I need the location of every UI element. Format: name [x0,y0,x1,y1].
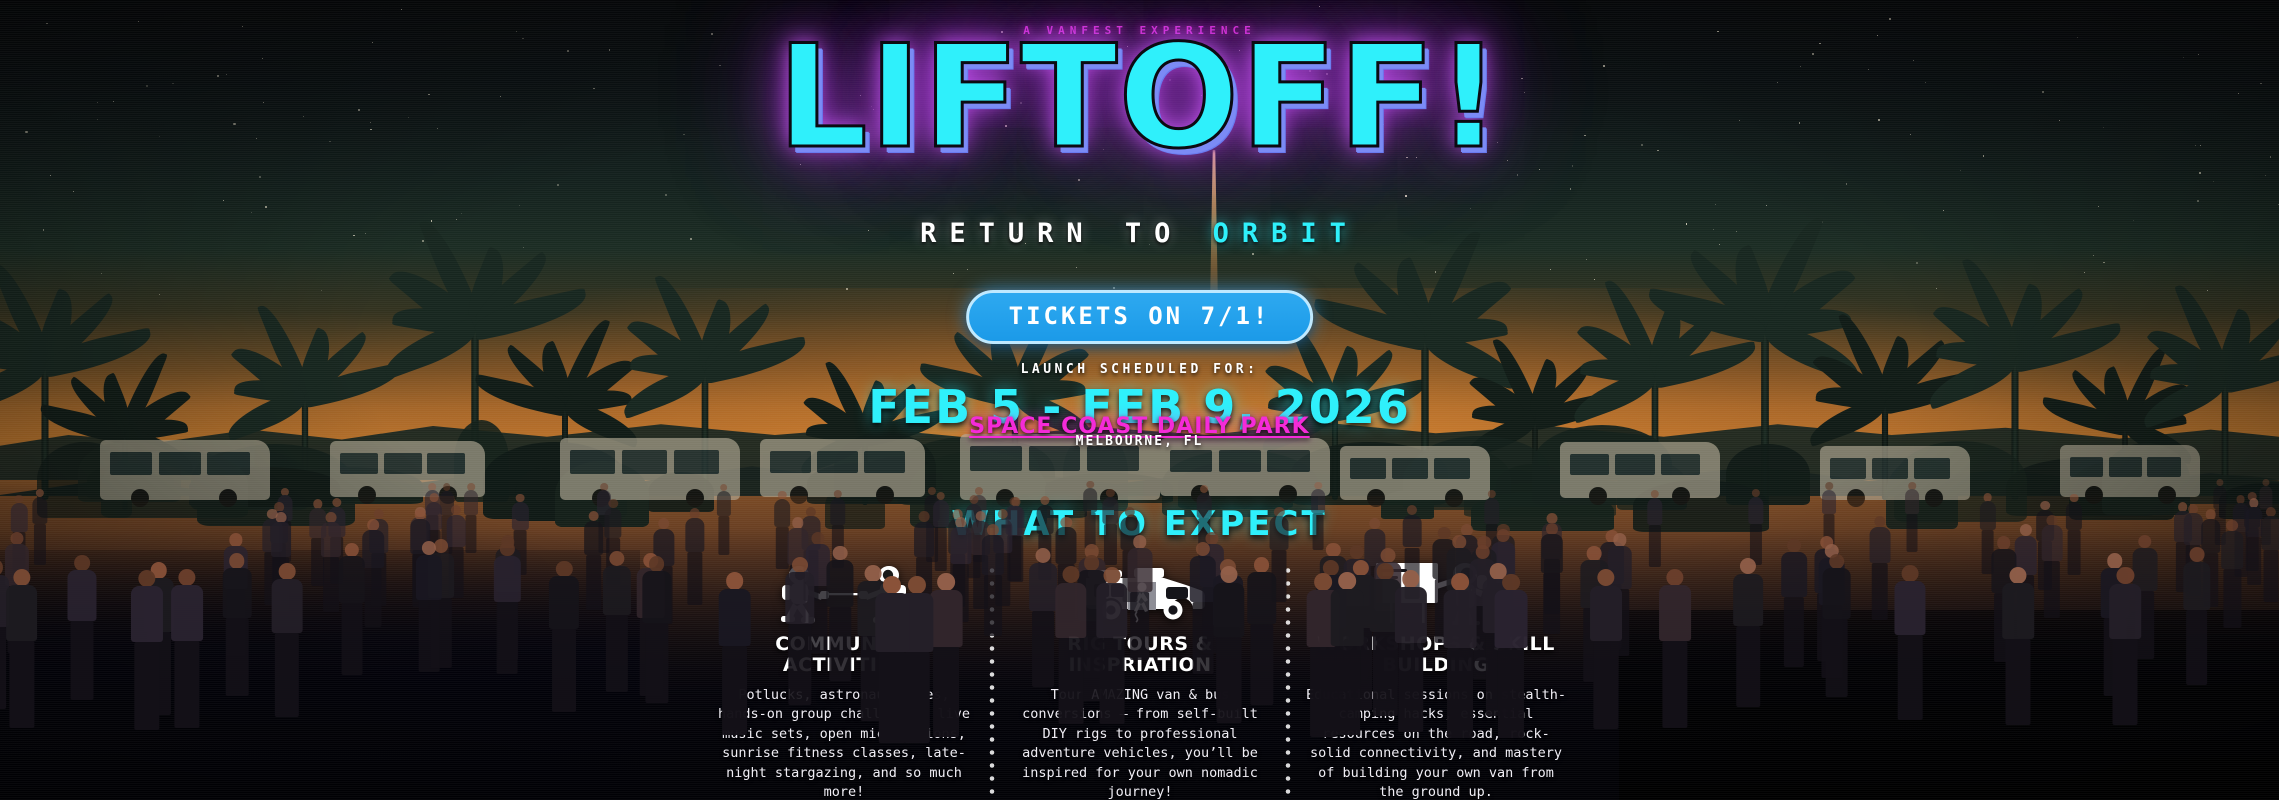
person-silhouette [1488,574,1535,738]
subtitle-orbit: ORBIT [1213,218,1359,249]
person-silhouette [1652,569,1697,728]
person-silhouette [868,576,915,743]
person-silhouette [1745,489,1767,565]
person-silhouette [1324,572,1370,735]
hero-title-wrap: LIFTOFF! [0,26,2279,171]
hero-subtitle: RETURN TO ORBIT [0,218,2279,249]
person-silhouette [1583,569,1628,729]
person-silhouette [711,572,757,735]
person-silhouette [1727,558,1769,707]
event-kicker: A VANFEST EXPERIENCE [0,24,2279,37]
person-silhouette [489,542,526,674]
person-silhouette [1049,566,1093,723]
person-silhouette [217,553,258,696]
page-title: LIFTOFF! [777,26,1502,171]
person-silhouette [2037,515,2066,618]
person-silhouette [1996,567,2041,725]
person-silhouette [333,543,370,675]
person-silhouette [636,556,677,702]
person-silhouette [714,484,734,555]
person-silhouette [1090,567,1135,724]
person-silhouette [2103,567,2148,725]
person-silhouette [1816,554,1857,698]
person-silhouette [2177,547,2216,684]
person-silhouette [543,561,586,712]
person-silhouette [410,541,447,672]
person-silhouette [681,508,708,604]
person-silhouette [1903,482,1923,551]
person-silhouette [977,524,1009,636]
person-silhouette [265,563,309,717]
person-silhouette [165,569,210,728]
person-silhouette [1388,570,1434,731]
tickets-on-sale-button[interactable]: TICKETS ON 7/1! [966,290,1314,344]
person-silhouette [1536,523,1568,634]
person-silhouette [124,570,169,730]
person-silhouette [2217,520,2248,628]
person-silhouette [61,555,102,700]
person-silhouette [1080,481,1099,549]
person-silhouette [1644,490,1666,567]
person-silhouette [1309,482,1328,551]
venue-city: MELBOURNE, FL [0,434,2279,449]
person-silhouette [1437,573,1484,737]
person-silhouette [2257,507,2279,602]
launch-scheduled-label: LAUNCH SCHEDULED FOR: [0,362,2279,377]
person-silhouette [779,557,821,704]
person-silhouette [1207,566,1251,723]
hero-banner: ✦ A VANFEST EXPERIENCE LIFTOFF! RETURN T… [0,0,2279,800]
person-silhouette [0,569,44,728]
person-silhouette [1888,565,1932,720]
person-silhouette [1776,539,1812,667]
subtitle-return-to: RETURN TO [920,218,1213,249]
